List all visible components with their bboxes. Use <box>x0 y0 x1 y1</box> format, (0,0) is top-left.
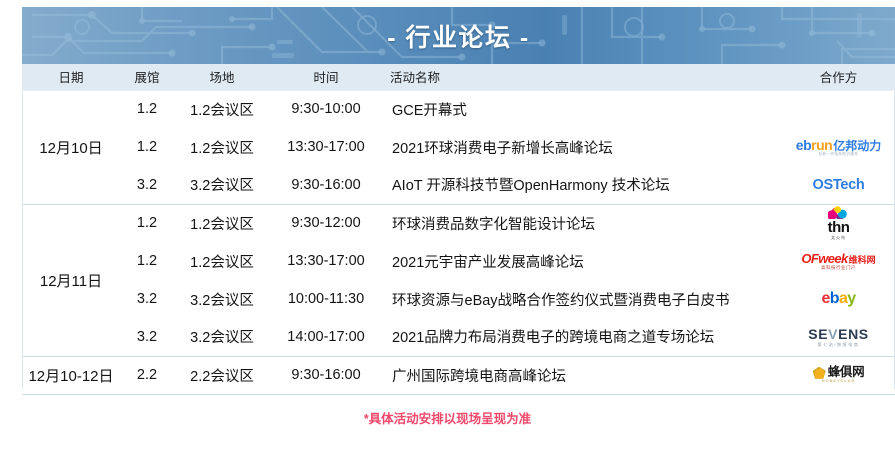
banner-title: - 行业论坛 - <box>22 7 895 64</box>
cell-partner: 蜂俱网 HONEYCLUB <box>782 356 895 394</box>
cell-partner: SEVENS 第七站/跨境电商 <box>782 318 895 356</box>
column-header-time: 时间 <box>270 64 382 90</box>
table-row: 1.2 1.2会议区 13:30-17:00 2021环球消费电子新增长高峰论坛… <box>22 128 895 166</box>
cell-time: 13:30-17:00 <box>270 128 382 166</box>
cell-event: AIoT 开源科技节暨OpenHarmony 技术论坛 <box>382 166 782 204</box>
ebay-logo-y: y <box>847 290 855 307</box>
cell-venue: 1.2会议区 <box>174 90 270 128</box>
footer-note: *具体活动安排以现场呈现为准 <box>0 408 895 427</box>
cell-hall: 3.2 <box>120 280 174 318</box>
cell-venue: 3.2会议区 <box>174 166 270 204</box>
cell-venue: 3.2会议区 <box>174 280 270 318</box>
cell-hall: 1.2 <box>120 128 174 166</box>
cell-event: 环球消费品数字化智能设计论坛 <box>382 204 782 242</box>
cell-partner: thn 太火鸟 <box>782 204 895 242</box>
cell-hall: 3.2 <box>120 318 174 356</box>
column-header-partner: 合作方 <box>782 64 895 90</box>
ofweek-logo-cn-text: 维科网 <box>849 256 876 265</box>
cell-venue: 2.2会议区 <box>174 356 270 394</box>
cell-partner: ebrun亿邦动力 창新一切电商知识服务 <box>782 128 895 166</box>
partner-logo-ofweek[interactable]: OFweek维科网 高科技行业门户 <box>782 243 895 279</box>
partner-logo-ebrun[interactable]: ebrun亿邦动力 창新一切电商知识服务 <box>782 129 895 165</box>
sevens-logo-text: SEVENS <box>808 327 868 341</box>
table-row: 12月11日 1.2 1.2会议区 9:30-12:00 环球消费品数字化智能设… <box>22 204 895 242</box>
cell-event: 2021元宇宙产业发展高峰论坛 <box>382 242 782 280</box>
bee-icon <box>813 367 826 379</box>
table-row: 12月10-12日 2.2 2.2会议区 9:30-16:00 广州国际跨境电商… <box>22 356 895 394</box>
ebrun-logo-run-text: run <box>811 138 832 152</box>
forum-schedule-page: - 行业论坛 - 日期 展馆 场地 时间 活动名称 合作方 12月10日 1.2 <box>0 0 895 456</box>
cell-partner: OFweek维科网 高科技行业门户 <box>782 242 895 280</box>
column-header-date: 日期 <box>22 64 120 90</box>
partner-logo-sevens[interactable]: SEVENS 第七站/跨境电商 <box>782 319 895 355</box>
partner-logo-honeyclub[interactable]: 蜂俱网 HONEYCLUB <box>782 357 895 393</box>
cell-event: 广州国际跨境电商高峰论坛 <box>382 356 782 394</box>
cell-venue: 1.2会议区 <box>174 128 270 166</box>
cell-hall: 1.2 <box>120 90 174 128</box>
table-body: 12月10日 1.2 1.2会议区 9:30-10:00 GCE开幕式 1.2 … <box>22 90 895 394</box>
cell-time: 10:00-11:30 <box>270 280 382 318</box>
honeyclub-logo-text: 蜂俱网 <box>828 366 865 379</box>
column-header-venue: 场地 <box>174 64 270 90</box>
cell-partner: ebay <box>782 280 895 318</box>
cell-date-group-2: 12月10-12日 <box>22 356 120 394</box>
ofweek-logo-text: OFweek <box>801 252 847 265</box>
ebrun-logo-cn-text: 亿邦动力 <box>833 140 881 152</box>
ebay-logo-a: a <box>839 290 847 307</box>
cell-date-group-1: 12月11日 <box>22 204 120 356</box>
cell-partner: OSTech <box>782 166 895 204</box>
ebay-logo-b: b <box>830 290 839 307</box>
cell-venue: 3.2会议区 <box>174 318 270 356</box>
cell-hall: 1.2 <box>120 204 174 242</box>
cell-time: 9:30-12:00 <box>270 204 382 242</box>
cell-time: 14:00-17:00 <box>270 318 382 356</box>
ebrun-logo-tagline: 창新一切电商知识服务 <box>819 153 859 156</box>
cell-event: 环球资源与eBay战略合作签约仪式暨消费电子白皮书 <box>382 280 782 318</box>
honeyclub-logo-tagline: HONEYCLUB <box>822 380 855 384</box>
cell-date-group-0: 12月10日 <box>22 90 120 204</box>
column-header-event: 活动名称 <box>382 64 782 90</box>
cell-venue: 1.2会议区 <box>174 204 270 242</box>
cell-time: 9:30-16:00 <box>270 166 382 204</box>
cell-hall: 3.2 <box>120 166 174 204</box>
cell-hall: 2.2 <box>120 356 174 394</box>
cell-event: 2021品牌力布局消费电子的跨境电商之道专场论坛 <box>382 318 782 356</box>
cell-event: GCE开幕式 <box>382 90 782 128</box>
thn-bird-icon <box>828 206 848 219</box>
table-row: 3.2 3.2会议区 10:00-11:30 环球资源与eBay战略合作签约仪式… <box>22 280 895 318</box>
table-header-row: 日期 展馆 场地 时间 活动名称 合作方 <box>22 64 895 90</box>
sevens-logo-tagline: 第七站/跨境电商 <box>818 343 860 347</box>
table-row: 3.2 3.2会议区 14:00-17:00 2021品牌力布局消费电子的跨境电… <box>22 318 895 356</box>
table-row: 3.2 3.2会议区 9:30-16:00 AIoT 开源科技节暨OpenHar… <box>22 166 895 204</box>
cell-venue: 1.2会议区 <box>174 242 270 280</box>
table-row: 12月10日 1.2 1.2会议区 9:30-10:00 GCE开幕式 <box>22 90 895 128</box>
ebrun-logo-eb-text: eb <box>796 138 811 152</box>
partner-logo-thn[interactable]: thn 太火鸟 <box>782 205 895 241</box>
table-row: 1.2 1.2会议区 13:30-17:00 2021元宇宙产业发展高峰论坛 O… <box>22 242 895 280</box>
ofweek-logo-tagline: 高科技行业门户 <box>821 266 856 271</box>
banner: - 行业论坛 - <box>0 0 895 64</box>
cell-hall: 1.2 <box>120 242 174 280</box>
column-header-hall: 展馆 <box>120 64 174 90</box>
schedule-table: 日期 展馆 场地 时间 活动名称 合作方 12月10日 1.2 1.2会议区 9… <box>22 64 895 395</box>
cell-partner <box>782 90 895 128</box>
cell-event: 2021环球消费电子新增长高峰论坛 <box>382 128 782 166</box>
partner-logo-ebay[interactable]: ebay <box>782 281 895 317</box>
thn-logo-text: thn <box>828 220 850 235</box>
ostech-logo-text: OSTech <box>813 177 865 193</box>
thn-logo-tagline: 太火鸟 <box>831 236 846 240</box>
table-head: 日期 展馆 场地 时间 活动名称 合作方 <box>22 64 895 90</box>
banner-background: - 行业论坛 - <box>22 7 895 64</box>
partner-logo-ostech[interactable]: OSTech <box>782 167 895 203</box>
cell-time: 9:30-10:00 <box>270 90 382 128</box>
cell-time: 9:30-16:00 <box>270 356 382 394</box>
cell-time: 13:30-17:00 <box>270 242 382 280</box>
ebay-logo-e: e <box>821 290 829 307</box>
